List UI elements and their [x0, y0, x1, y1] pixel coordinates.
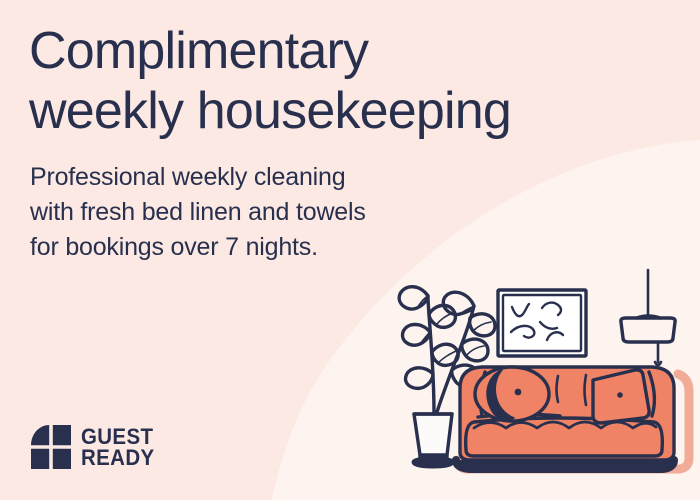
logo-line-1: GUEST	[81, 426, 154, 447]
logo-quadrant-bottom-right	[53, 449, 71, 469]
plant-vein-7	[466, 346, 484, 356]
logo-wordmark: GUEST READY	[81, 426, 154, 468]
plant-leaf-6	[443, 292, 474, 314]
round-cushion	[475, 367, 549, 421]
logo-quadrant-top-left	[31, 425, 49, 445]
plant-pot	[414, 414, 452, 455]
plant-leaf-3	[403, 325, 430, 346]
sofa-base	[456, 460, 674, 469]
plant-leaf-4	[432, 344, 458, 365]
sofa-back-seam-2	[557, 376, 559, 402]
logo-quadrant-bottom-left	[31, 449, 49, 469]
sofa-back-seam-3	[585, 375, 587, 405]
framed-art	[498, 290, 586, 356]
lamp-shade-top	[637, 316, 660, 318]
pendant-lamp	[621, 270, 675, 365]
logo-line-2: READY	[81, 447, 154, 468]
plant-vein-6	[473, 322, 491, 331]
logo-quadrant-top-right	[53, 425, 71, 445]
square-cushion-button	[617, 392, 623, 398]
plant-leaf-1	[399, 287, 428, 309]
subtitle-text: Professional weekly cleaning with fresh …	[30, 160, 460, 265]
round-cushion-button	[515, 389, 522, 396]
living-room-illustration	[390, 262, 700, 500]
plant-pot-foot	[412, 457, 454, 468]
round-cushion-outer	[475, 367, 549, 421]
guestready-quadrant-mark	[31, 425, 71, 469]
lamp-shade	[621, 318, 675, 342]
sofa	[456, 367, 689, 469]
plant-leaf-5	[406, 368, 433, 389]
square-cushion	[593, 370, 649, 423]
promo-card: Complimentary weekly housekeeping Profes…	[0, 0, 700, 500]
plant-vein-2	[436, 313, 453, 325]
plant-leaf-2	[429, 305, 455, 327]
page-title: Complimentary weekly housekeeping	[29, 21, 649, 141]
guestready-logo: GUEST READY	[31, 425, 160, 469]
plant-leaf-8	[462, 339, 488, 361]
